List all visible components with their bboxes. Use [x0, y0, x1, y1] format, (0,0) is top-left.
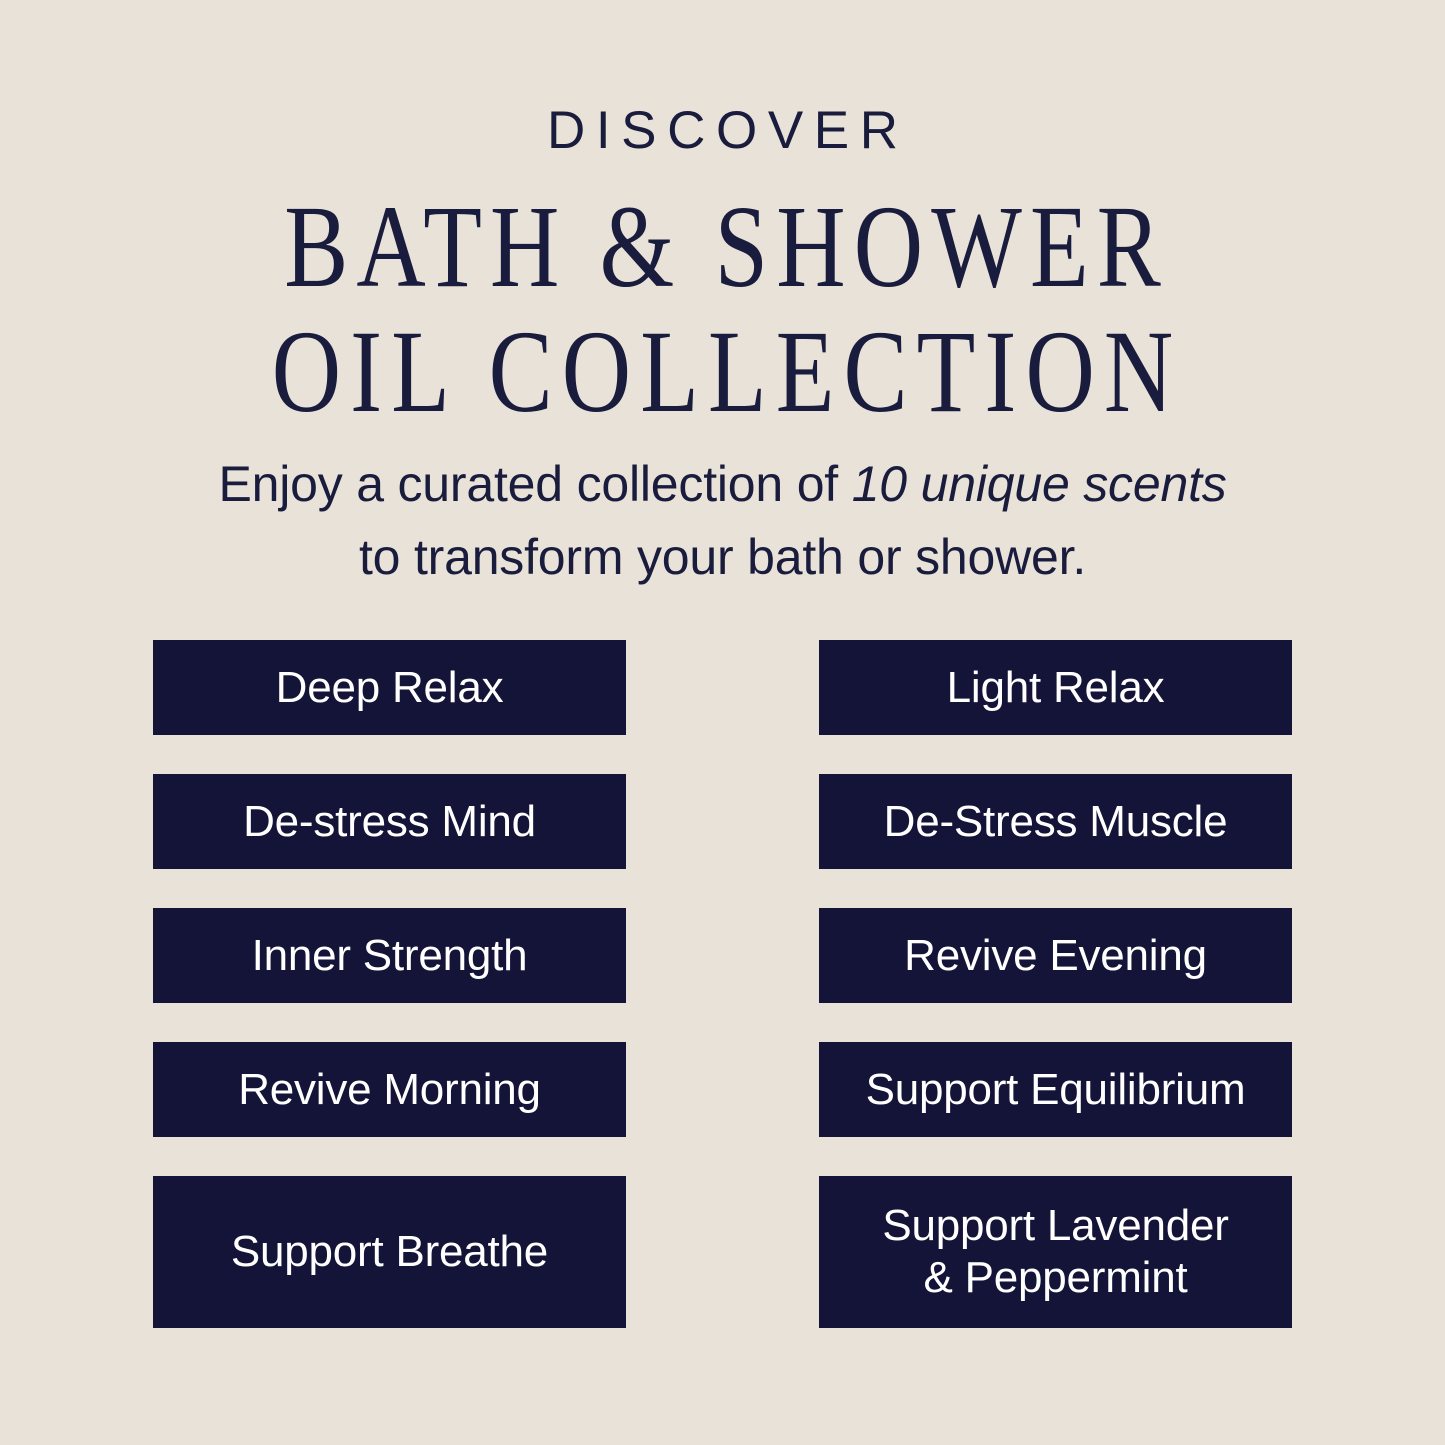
scent-chip-label: Revive Evening	[904, 930, 1207, 982]
scent-chip-label: Light Relax	[947, 662, 1165, 714]
subtitle-emphasis: 10 unique scents	[852, 456, 1227, 512]
scent-chip-support-breathe[interactable]: Support Breathe	[153, 1176, 626, 1328]
scent-chip-de-stress-muscle[interactable]: De-Stress Muscle	[819, 774, 1292, 869]
page-title-line-2: OIL COLLECTION	[0, 312, 1445, 433]
scent-chip-support-equilibrium[interactable]: Support Equilibrium	[819, 1042, 1292, 1137]
scent-chip-label: Inner Strength	[252, 930, 528, 982]
scent-chip-label-line-2: & Peppermint	[882, 1252, 1228, 1304]
subtitle-line-1: Enjoy a curated collection of 10 unique …	[0, 448, 1445, 521]
scent-chip-label: Support Equilibrium	[866, 1064, 1246, 1116]
page-title: BATH & SHOWER OIL COLLECTION	[0, 187, 1445, 411]
scent-chip-label: De-stress Mind	[243, 796, 536, 848]
scent-grid: Deep Relax Light Relax De-stress Mind De…	[153, 640, 1292, 1328]
scent-row: Revive Morning Support Equilibrium	[153, 1042, 1292, 1137]
scent-chip-label-line-1: Support Lavender	[882, 1200, 1228, 1252]
subtitle: Enjoy a curated collection of 10 unique …	[0, 448, 1445, 593]
scent-chip-de-stress-mind[interactable]: De-stress Mind	[153, 774, 626, 869]
scent-chip-label: Revive Morning	[238, 1064, 541, 1116]
poster-header: DISCOVER BATH & SHOWER OIL COLLECTION	[0, 0, 1445, 411]
scent-row: Support Breathe Support Lavender & Peppe…	[153, 1176, 1292, 1328]
scent-chip-inner-strength[interactable]: Inner Strength	[153, 908, 626, 1003]
scent-chip-label: De-Stress Muscle	[884, 796, 1228, 848]
scent-chip-deep-relax[interactable]: Deep Relax	[153, 640, 626, 735]
scent-row: De-stress Mind De-Stress Muscle	[153, 774, 1292, 869]
page-title-line-1: BATH & SHOWER	[0, 187, 1445, 308]
scent-chip-label-wrap: Support Lavender & Peppermint	[882, 1200, 1228, 1304]
subtitle-line-2: to transform your bath or shower.	[0, 521, 1445, 594]
promo-poster: DISCOVER BATH & SHOWER OIL COLLECTION En…	[0, 0, 1445, 1445]
scent-chip-label: Deep Relax	[276, 662, 504, 714]
scent-chip-light-relax[interactable]: Light Relax	[819, 640, 1292, 735]
scent-chip-support-lavender-peppermint[interactable]: Support Lavender & Peppermint	[819, 1176, 1292, 1328]
scent-row: Deep Relax Light Relax	[153, 640, 1292, 735]
scent-row: Inner Strength Revive Evening	[153, 908, 1292, 1003]
eyebrow-label: DISCOVER	[0, 104, 1445, 157]
scent-chip-revive-evening[interactable]: Revive Evening	[819, 908, 1292, 1003]
subtitle-prefix: Enjoy a curated collection of	[218, 456, 851, 512]
scent-chip-label: Support Breathe	[231, 1226, 548, 1278]
scent-chip-revive-morning[interactable]: Revive Morning	[153, 1042, 626, 1137]
